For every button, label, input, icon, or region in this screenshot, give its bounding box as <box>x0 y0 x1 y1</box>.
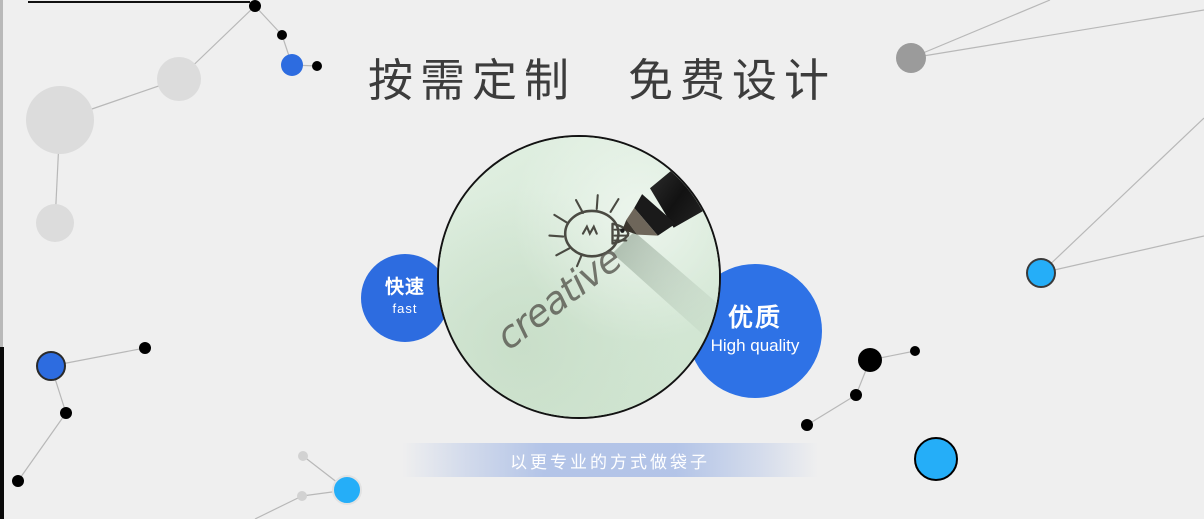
node-black-top-2 <box>277 30 287 40</box>
feature-fast-title-en: fast <box>393 299 418 319</box>
node-gray-bl-1 <box>298 451 308 461</box>
node-cyan-bottom-right <box>915 438 957 480</box>
node-cyan-right <box>1027 259 1055 287</box>
network-link <box>255 496 302 519</box>
node-black-left-3 <box>12 475 24 487</box>
node-black-right-1 <box>910 346 920 356</box>
feature-circle-fast[interactable]: 快速 fast <box>361 254 449 342</box>
network-link <box>1041 236 1204 273</box>
node-gray-small-left <box>36 204 74 242</box>
network-link <box>807 395 856 425</box>
node-black-right-2 <box>850 389 862 401</box>
network-link <box>1041 118 1204 273</box>
left-edge-strip-black <box>0 347 4 519</box>
node-black-right-3 <box>801 419 813 431</box>
sub-banner: 以更专业的方式做袋子 <box>402 443 818 477</box>
creative-photo-circle: creative <box>437 135 721 419</box>
node-blue-left-lower <box>37 352 65 380</box>
node-cyan-bottom-left <box>333 476 361 504</box>
lightbulb-sketch-icon: creative <box>439 137 719 417</box>
node-black-top-1 <box>249 0 261 12</box>
node-black-left-1 <box>139 342 151 354</box>
page-title: 按需定制 免费设计 <box>0 44 1204 109</box>
node-black-left-2 <box>60 407 72 419</box>
network-link <box>18 413 66 481</box>
feature-fast-title-cn: 快速 <box>385 277 425 299</box>
node-gray-bl-2 <box>297 491 307 501</box>
promo-banner: 按需定制 免费设计 快速 fast 优质 High quality <box>0 0 1204 519</box>
top-rule-line <box>28 1 250 3</box>
node-black-big-right <box>858 348 882 372</box>
feature-quality-title-cn: 优质 <box>728 303 782 333</box>
sub-banner-text: 以更专业的方式做袋子 <box>510 448 710 473</box>
feature-quality-title-en: High quality <box>711 333 800 359</box>
